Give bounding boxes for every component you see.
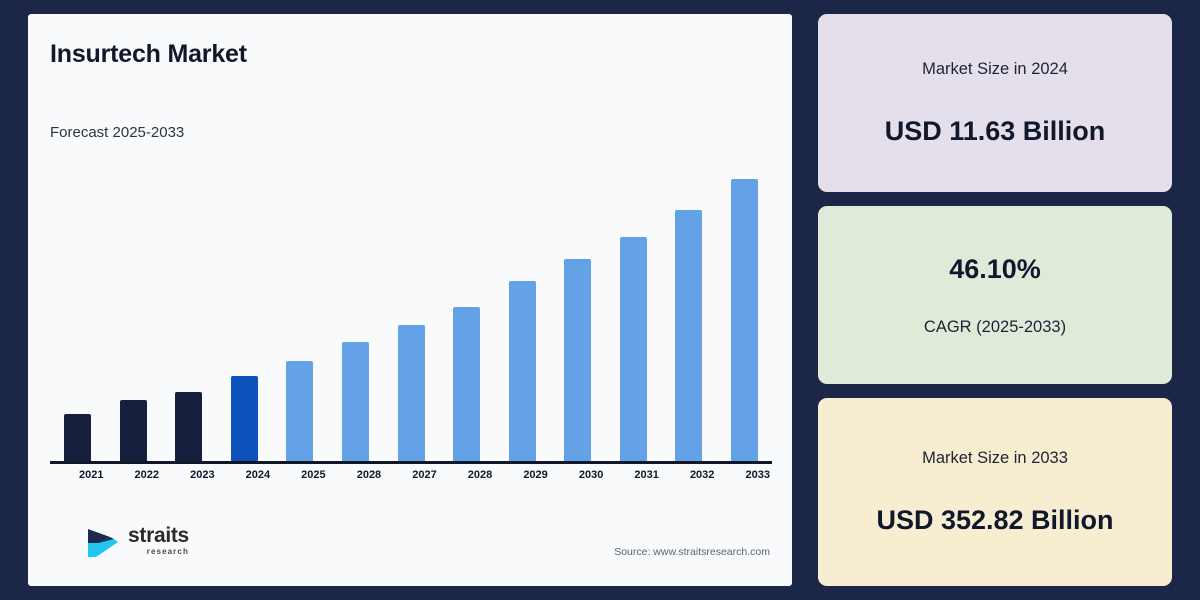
logo-name: straits bbox=[128, 525, 189, 547]
chart-subtitle: Forecast 2025-2033 bbox=[50, 124, 184, 141]
bar-2024-3 bbox=[231, 376, 258, 462]
bar-2028-7 bbox=[453, 307, 480, 462]
bar-2032-11 bbox=[675, 210, 702, 462]
x-label-6: 2027 bbox=[398, 469, 452, 481]
stat-card-value: 46.10% bbox=[949, 252, 1041, 286]
x-label-12: 2033 bbox=[731, 469, 785, 481]
logo-subtitle: research bbox=[128, 547, 189, 557]
bar-2033-12 bbox=[731, 179, 758, 462]
x-label-8: 2029 bbox=[509, 469, 563, 481]
x-label-11: 2032 bbox=[675, 469, 729, 481]
stat-card-label: Market Size in 2033 bbox=[922, 447, 1068, 469]
x-label-4: 2025 bbox=[286, 469, 340, 481]
x-label-10: 2031 bbox=[620, 469, 674, 481]
x-axis-line bbox=[50, 461, 772, 464]
x-label-5: 2028 bbox=[342, 469, 396, 481]
stat-card-list: Market Size in 2024USD 11.63 Billion46.1… bbox=[818, 14, 1172, 586]
stat-card-value: USD 352.82 Billion bbox=[876, 503, 1113, 537]
infographic-root: Insurtech Market Forecast 2025-2033 2021… bbox=[0, 0, 1200, 600]
page-title: Insurtech Market bbox=[50, 40, 247, 69]
source-attribution: Source: www.straitsresearch.com bbox=[614, 546, 770, 558]
straits-arrow-logo-icon bbox=[84, 523, 124, 563]
bar-2027-6 bbox=[398, 325, 425, 462]
bar-2029-8 bbox=[509, 281, 536, 462]
stat-card-market-size-2033: Market Size in 2033USD 352.82 Billion bbox=[818, 398, 1172, 586]
x-label-7: 2028 bbox=[453, 469, 507, 481]
x-label-9: 2030 bbox=[564, 469, 618, 481]
stat-card-cagr: 46.10%CAGR (2025-2033) bbox=[818, 206, 1172, 384]
x-label-3: 2024 bbox=[231, 469, 285, 481]
bar-2025-4 bbox=[286, 361, 313, 462]
stat-card-label: Market Size in 2024 bbox=[922, 58, 1068, 80]
x-label-2: 2023 bbox=[175, 469, 229, 481]
x-label-0: 2021 bbox=[64, 469, 118, 481]
x-axis-labels: 2021202220232024202520282027202820292030… bbox=[50, 469, 772, 489]
logo-wordmark: straits research bbox=[128, 525, 189, 557]
plot-area bbox=[50, 162, 772, 464]
chart-panel: Insurtech Market Forecast 2025-2033 2021… bbox=[28, 14, 792, 586]
bar-2022-1 bbox=[120, 400, 147, 462]
straits-research-logo: straits research bbox=[84, 519, 204, 567]
stat-card-market-size-2024: Market Size in 2024USD 11.63 Billion bbox=[818, 14, 1172, 192]
bar-2030-9 bbox=[564, 259, 591, 462]
bar-2023-2 bbox=[175, 392, 202, 462]
bar-2031-10 bbox=[620, 237, 647, 462]
x-label-1: 2022 bbox=[120, 469, 174, 481]
stat-card-label: CAGR (2025-2033) bbox=[924, 316, 1066, 338]
bar-2021-0 bbox=[64, 414, 91, 462]
stat-card-value: USD 11.63 Billion bbox=[885, 114, 1106, 148]
bar-2028-5 bbox=[342, 342, 369, 462]
bar-series bbox=[50, 162, 772, 462]
